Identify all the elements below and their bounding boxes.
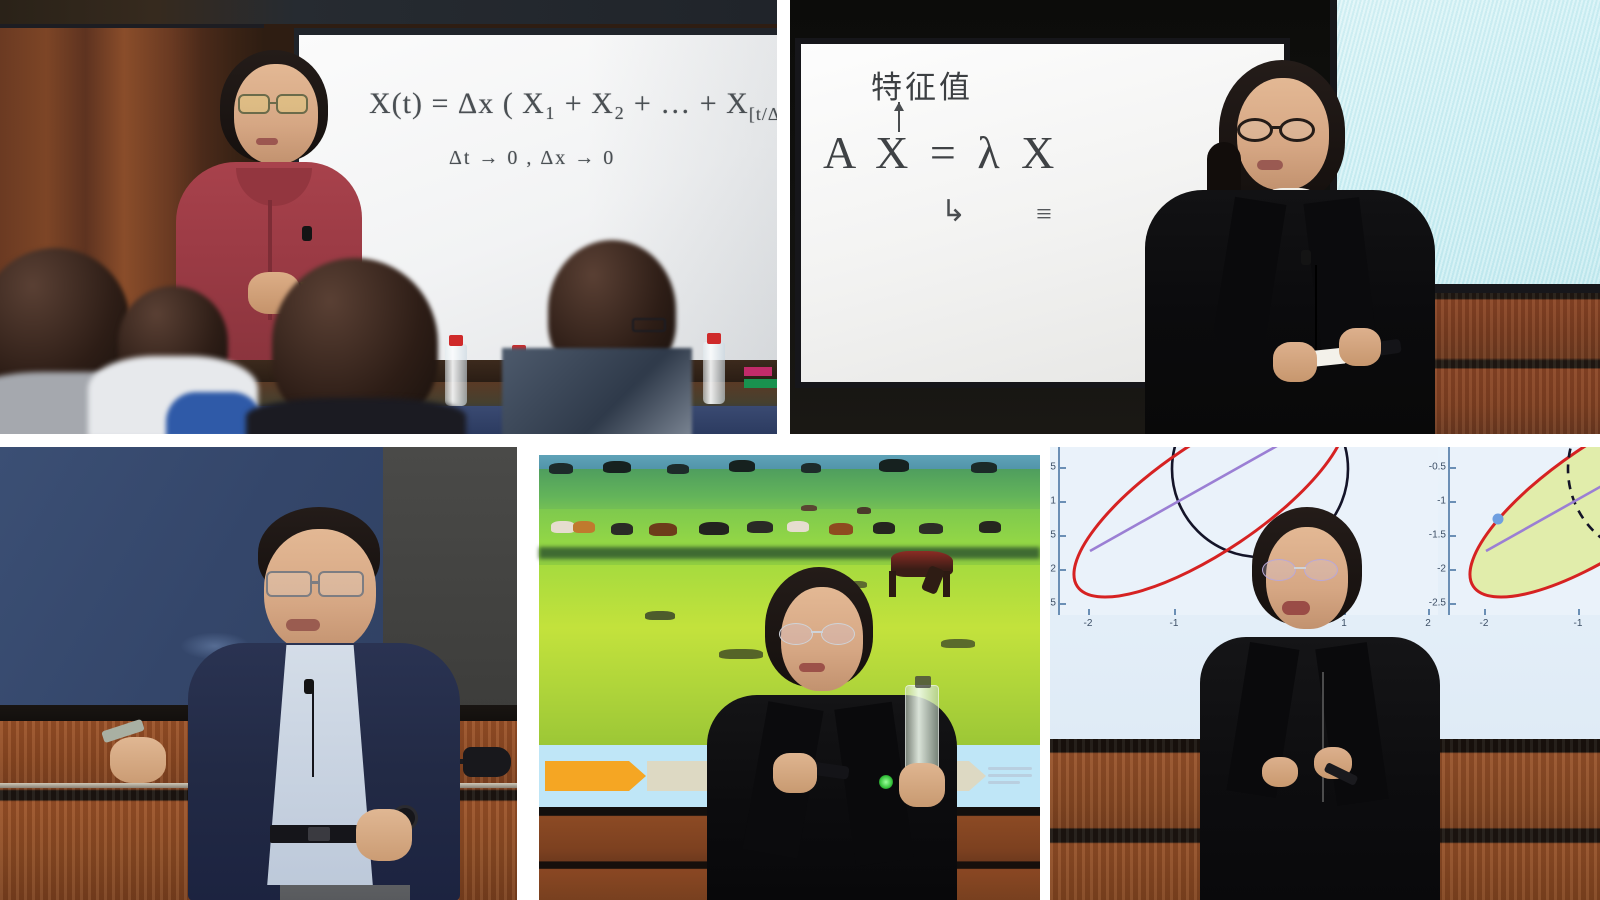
belt-buckle	[308, 827, 330, 841]
presenter-mouth	[256, 138, 278, 145]
presenter-hand-left	[773, 753, 817, 793]
y-tick-label: -0.5	[1050, 462, 1056, 473]
eyeglasses-right-lens	[1304, 559, 1338, 581]
water-bottle	[703, 342, 725, 404]
ceiling-strip	[0, 0, 777, 24]
presenter-black-blazer	[1145, 60, 1435, 434]
audience-jacket	[502, 348, 692, 434]
lapel-microphone-icon	[1301, 250, 1311, 265]
grazing-animal	[829, 523, 853, 535]
chart-ellipse-plot-right: -0.5 -1 -1.5 -2 -2.5 -2 -1	[1448, 447, 1600, 615]
microphone-wire	[1315, 265, 1317, 360]
presenter-hand-left	[110, 737, 166, 783]
presenter-hand-right	[899, 763, 945, 807]
eyeglasses-left-lens	[1237, 118, 1273, 142]
grazing-animal	[611, 523, 633, 535]
water-bottle	[445, 344, 467, 406]
presenter-hand-right	[356, 809, 412, 861]
bottle-green-light	[879, 775, 893, 789]
rotated-ellipse-curve	[1443, 447, 1600, 631]
eyeglasses-right-lens	[1279, 118, 1315, 142]
grazing-animal	[801, 463, 821, 473]
whiteboard-hook-arrow-icon: ↳	[941, 194, 966, 229]
trousers	[280, 885, 410, 900]
grazing-animal	[879, 459, 909, 472]
grazing-animal	[971, 462, 997, 473]
whiteboard-equation: A X = λ X	[823, 126, 1059, 179]
slide-text-lines-icon	[988, 767, 1032, 788]
lapel-microphone-icon	[304, 679, 314, 694]
presenter-hand-left	[1262, 757, 1298, 787]
eyeglasses-right-lens	[276, 94, 308, 114]
grazing-animal	[787, 521, 809, 532]
presenter-hand-left	[1273, 342, 1317, 382]
presenter-mouth	[1282, 601, 1310, 615]
panel-ellipse-plot-slide: -0.5 -1 -1.5 -2 -2.5 -2 -1 1 2	[1050, 447, 1600, 900]
grazing-animal	[573, 521, 595, 533]
grazing-animal	[603, 461, 631, 473]
grazing-animal	[801, 505, 817, 511]
presenter-mouth	[799, 663, 825, 672]
slide-chevron-active	[545, 761, 629, 791]
eyeglasses-bridge	[1271, 126, 1281, 129]
presenter-mouth	[286, 619, 320, 631]
photo-collage: X(t) = Δx ( X₁ + X₂ + … + X[t/Δt] ). Δt …	[0, 0, 1600, 900]
audience-eyeglasses	[632, 318, 666, 332]
grazing-animal	[549, 463, 573, 474]
grazing-animal	[551, 521, 575, 533]
eyeglasses-bridge	[310, 581, 320, 584]
audience-shoulders	[246, 398, 466, 434]
grazing-animal	[667, 464, 689, 474]
presenter-bottle-demo	[707, 567, 957, 900]
whiteboard-side-note: ≡	[1036, 199, 1052, 231]
y-tick-label: -2.5	[1050, 598, 1056, 609]
x-tick-label: -2	[1480, 618, 1489, 629]
y-tick-label: -1	[1050, 496, 1056, 507]
presenter-mouth	[1257, 160, 1283, 170]
whiteboard-formula-line1: X(t) = Δx ( X₁ + X₂ + … + X[t/Δt] ).	[369, 87, 777, 125]
black-blazer	[1145, 190, 1435, 434]
whiteboard-annotation-eigenvalue: 特征值	[871, 62, 973, 107]
lapel-microphone-icon	[302, 226, 312, 241]
desk-marker-pink	[744, 367, 772, 376]
presenter-hand-right	[1339, 328, 1381, 366]
grazing-animal	[747, 521, 773, 533]
eyeglasses-bridge	[268, 102, 278, 104]
desk-marker-green	[744, 379, 777, 388]
eyeglasses-bridge	[811, 631, 823, 633]
grazing-animal	[699, 522, 729, 535]
eyeglasses-left-lens	[779, 623, 813, 645]
eyeglasses-left-lens	[238, 94, 270, 114]
eyeglasses-left-lens	[266, 571, 312, 597]
microphone-wire	[312, 691, 314, 777]
eyeglasses-right-lens	[318, 571, 364, 597]
marker-point	[1493, 514, 1504, 525]
slide-tree-line	[539, 547, 1040, 559]
grazing-animal	[979, 521, 1001, 533]
panel-whiteboard-eigenvalue: 特征值 A X = λ X ↳ ≡	[790, 0, 1600, 434]
x-tick-label: -2	[1084, 618, 1093, 629]
eyeglasses-bridge	[1294, 567, 1306, 569]
grazing-animal	[729, 460, 755, 472]
eyeglasses-right-lens	[821, 623, 855, 645]
grazing-animal	[649, 523, 677, 536]
microphone-wire	[1322, 672, 1324, 802]
y-tick-label: -1	[1437, 496, 1446, 507]
slide-grass-mid	[539, 509, 1040, 571]
presenter-gesturing	[1200, 507, 1440, 900]
eyeglasses-left-lens	[1262, 559, 1296, 581]
grazing-animal	[873, 522, 895, 534]
presenter-navy-cardigan	[160, 507, 490, 900]
grazing-animal	[645, 611, 675, 620]
grazing-animal	[857, 507, 871, 514]
grazing-animal	[919, 523, 943, 534]
panel-whiteboard-random-walk: X(t) = Δx ( X₁ + X₂ + … + X[t/Δt] ). Δt …	[0, 0, 777, 434]
chart-curves-right	[1450, 447, 1600, 615]
y-tick-label: -0.5	[1429, 462, 1446, 473]
x-tick-label: -1	[1170, 618, 1179, 629]
x-tick-label: -1	[1574, 618, 1583, 629]
y-tick-label: -2	[1050, 564, 1056, 575]
y-tick-label: -1.5	[1050, 530, 1056, 541]
panel-grassland-slide	[527, 447, 1040, 900]
presenter-face	[234, 64, 318, 164]
panel-male-speaker	[0, 447, 517, 900]
whiteboard-formula-line2: Δt → 0 , Δx → 0	[449, 147, 615, 170]
